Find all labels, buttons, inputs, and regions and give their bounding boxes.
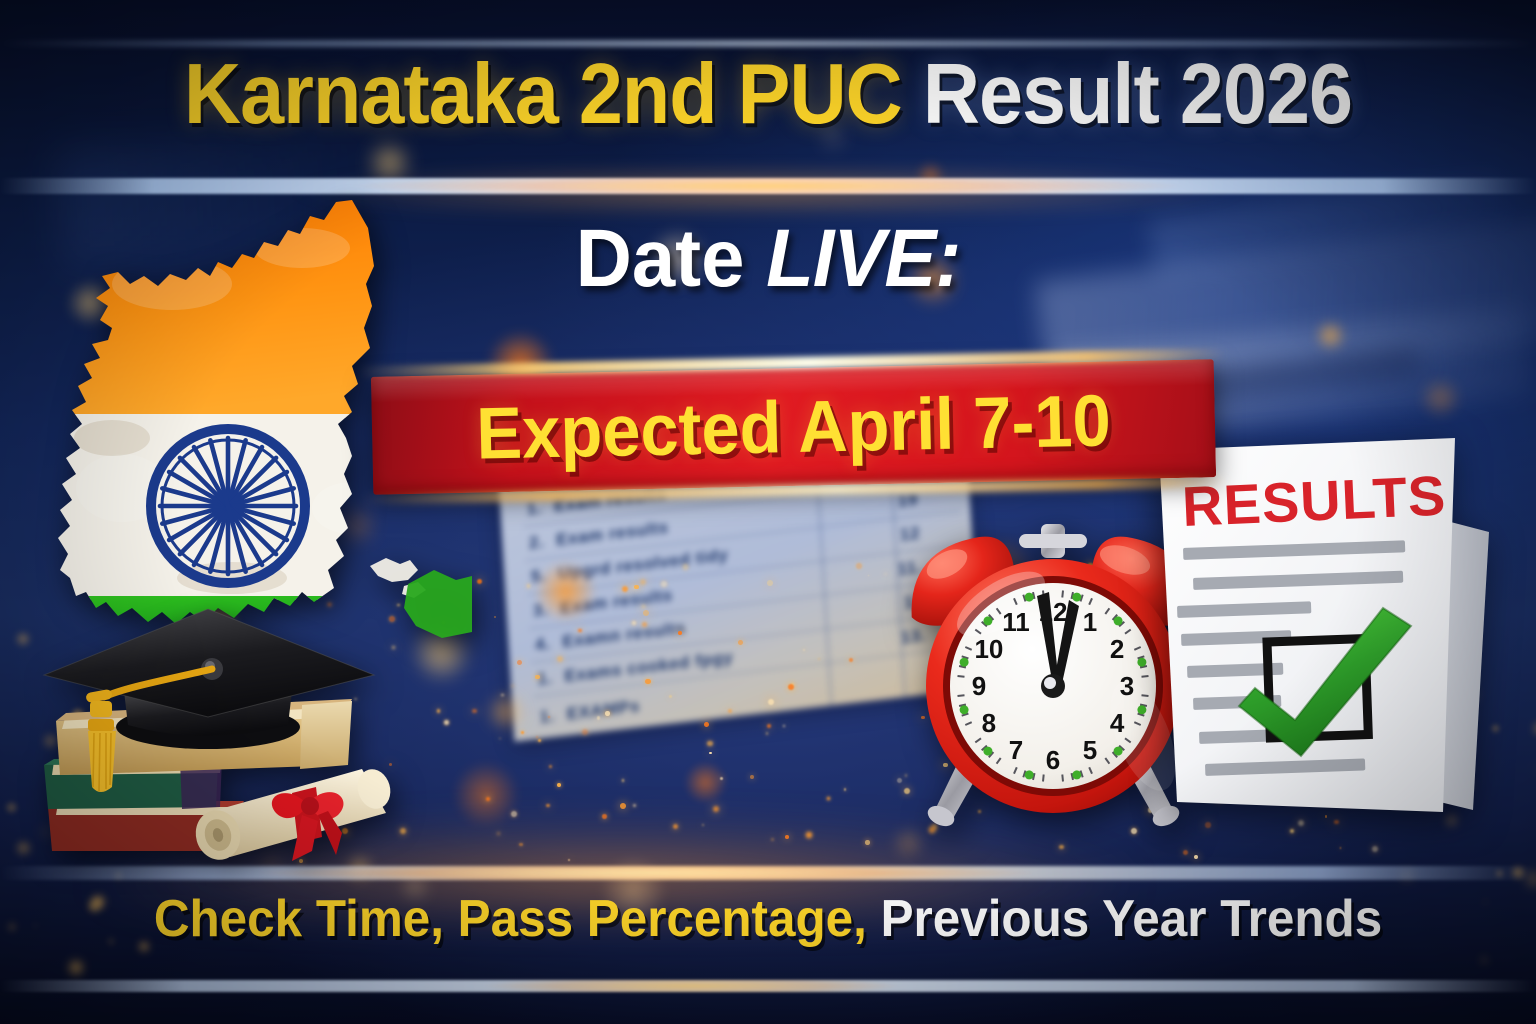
edge-ember bbox=[1495, 869, 1504, 878]
edge-ember bbox=[1461, 960, 1464, 963]
spark-particle bbox=[1372, 846, 1378, 852]
spark-particle bbox=[865, 840, 870, 845]
clock-numeral: 11 bbox=[1002, 607, 1030, 637]
spark-particle bbox=[494, 616, 496, 618]
clock-numeral: 7 bbox=[1009, 735, 1023, 765]
bokeh-light bbox=[367, 140, 412, 185]
spark-particle bbox=[497, 832, 500, 835]
footer-caption: Check Time, Pass Percentage, Previous Ye… bbox=[38, 893, 1497, 945]
edge-ember bbox=[67, 958, 86, 977]
spark-particle bbox=[1059, 845, 1063, 849]
spark-particle bbox=[1290, 829, 1294, 833]
spark-particle bbox=[546, 804, 550, 808]
spark-particle bbox=[602, 814, 607, 819]
spark-particle bbox=[844, 788, 847, 791]
spark-particle bbox=[519, 843, 523, 847]
page-title: Karnataka 2nd PUC Result 2026 bbox=[54, 52, 1482, 137]
spark-particle bbox=[501, 694, 504, 697]
spark-particle bbox=[620, 803, 626, 809]
clock-numeral: 2 bbox=[1110, 634, 1124, 664]
ashoka-chakra-icon bbox=[151, 429, 305, 583]
edge-ember bbox=[1402, 870, 1412, 880]
spark-particle bbox=[1183, 850, 1188, 855]
news-banner-graphic: 1. Exam results 10 2. Exam results 19 5.… bbox=[0, 0, 1536, 1024]
clock-numeral: 6 bbox=[1046, 745, 1060, 775]
spark-particle bbox=[827, 797, 830, 800]
spark-particle bbox=[1194, 855, 1198, 859]
spark-particle bbox=[767, 724, 771, 728]
clock-numeral: 8 bbox=[982, 708, 996, 738]
clock-numeral: 3 bbox=[1120, 671, 1134, 701]
edge-ember bbox=[1526, 871, 1536, 887]
spark-particle bbox=[785, 835, 789, 839]
bokeh-light bbox=[891, 826, 926, 861]
header-light-streak bbox=[0, 40, 1536, 47]
marksheet-row-num: 3. bbox=[528, 599, 549, 621]
edge-ember bbox=[1481, 957, 1487, 963]
spark-particle bbox=[538, 739, 541, 742]
clock-numeral: 5 bbox=[1083, 735, 1097, 765]
footer-part-white: Previous Year Trends bbox=[881, 890, 1383, 948]
spark-particle bbox=[750, 775, 754, 779]
edge-ember bbox=[1510, 864, 1526, 880]
spark-particle bbox=[568, 859, 570, 861]
spark-particle bbox=[477, 579, 482, 584]
title-part-yellow: Karnataka 2nd PUC bbox=[184, 47, 902, 142]
spark-particle bbox=[557, 783, 561, 787]
spark-particle bbox=[766, 732, 769, 735]
book-stack-icon bbox=[30, 575, 430, 870]
spark-particle bbox=[709, 752, 711, 754]
spark-particle bbox=[707, 741, 712, 746]
spark-particle bbox=[486, 797, 490, 801]
spark-particle bbox=[472, 709, 476, 713]
clock-numeral: 10 bbox=[974, 634, 1003, 664]
subtitle-live: LIVE: bbox=[766, 213, 960, 304]
results-heading: RESULTS bbox=[1181, 464, 1448, 538]
marksheet-row-num: 5. bbox=[526, 565, 547, 587]
clock-numeral: 1 bbox=[1083, 607, 1097, 637]
bokeh-light bbox=[684, 761, 727, 804]
edge-ember bbox=[8, 923, 15, 930]
spark-particle bbox=[720, 777, 723, 780]
spark-particle bbox=[622, 779, 624, 781]
spark-particle bbox=[673, 824, 678, 829]
edge-ember bbox=[4, 800, 19, 815]
edge-ember bbox=[15, 631, 31, 647]
marksheet-row-text: EXAMPs bbox=[566, 696, 640, 724]
bokeh-light bbox=[452, 761, 520, 829]
spark-particle bbox=[437, 709, 440, 712]
spark-particle bbox=[633, 804, 636, 807]
edge-ember bbox=[115, 872, 122, 879]
marksheet-row-text: Exam results bbox=[556, 517, 670, 550]
spark-particle bbox=[499, 738, 501, 740]
clock-numeral: 4 bbox=[1110, 708, 1125, 738]
spark-particle bbox=[511, 811, 517, 817]
spark-particle bbox=[771, 838, 774, 841]
page-subtitle: Date LIVE: bbox=[38, 218, 1497, 300]
clock-numeral: 9 bbox=[972, 671, 986, 701]
spark-particle bbox=[549, 765, 552, 768]
title-part-white: Result 2026 bbox=[923, 47, 1352, 142]
expected-date-banner: Expected April 7-10 bbox=[371, 359, 1216, 495]
spark-particle bbox=[444, 720, 449, 725]
spark-particle bbox=[806, 832, 812, 838]
edge-ember bbox=[34, 924, 37, 927]
spark-particle bbox=[713, 806, 719, 812]
marksheet-row-num: 2. bbox=[524, 531, 545, 553]
marksheet-row-text: Exam results bbox=[560, 585, 674, 618]
spark-particle bbox=[783, 725, 785, 727]
expected-date-text: Expected April 7-10 bbox=[396, 360, 1191, 495]
bokeh-light bbox=[917, 162, 944, 189]
footer-part-yellow: Check Time, Pass Percentage, bbox=[154, 890, 867, 948]
spark-particle bbox=[704, 722, 709, 727]
marksheet-row-num: 1. bbox=[532, 667, 553, 689]
marksheet-row-num: 1. bbox=[534, 706, 555, 728]
spark-particle bbox=[702, 824, 704, 826]
bottom-light-streak bbox=[0, 980, 1536, 992]
spark-particle bbox=[1340, 847, 1342, 849]
subtitle-date: Date bbox=[576, 213, 745, 304]
marksheet-row-num: 4. bbox=[530, 633, 551, 655]
